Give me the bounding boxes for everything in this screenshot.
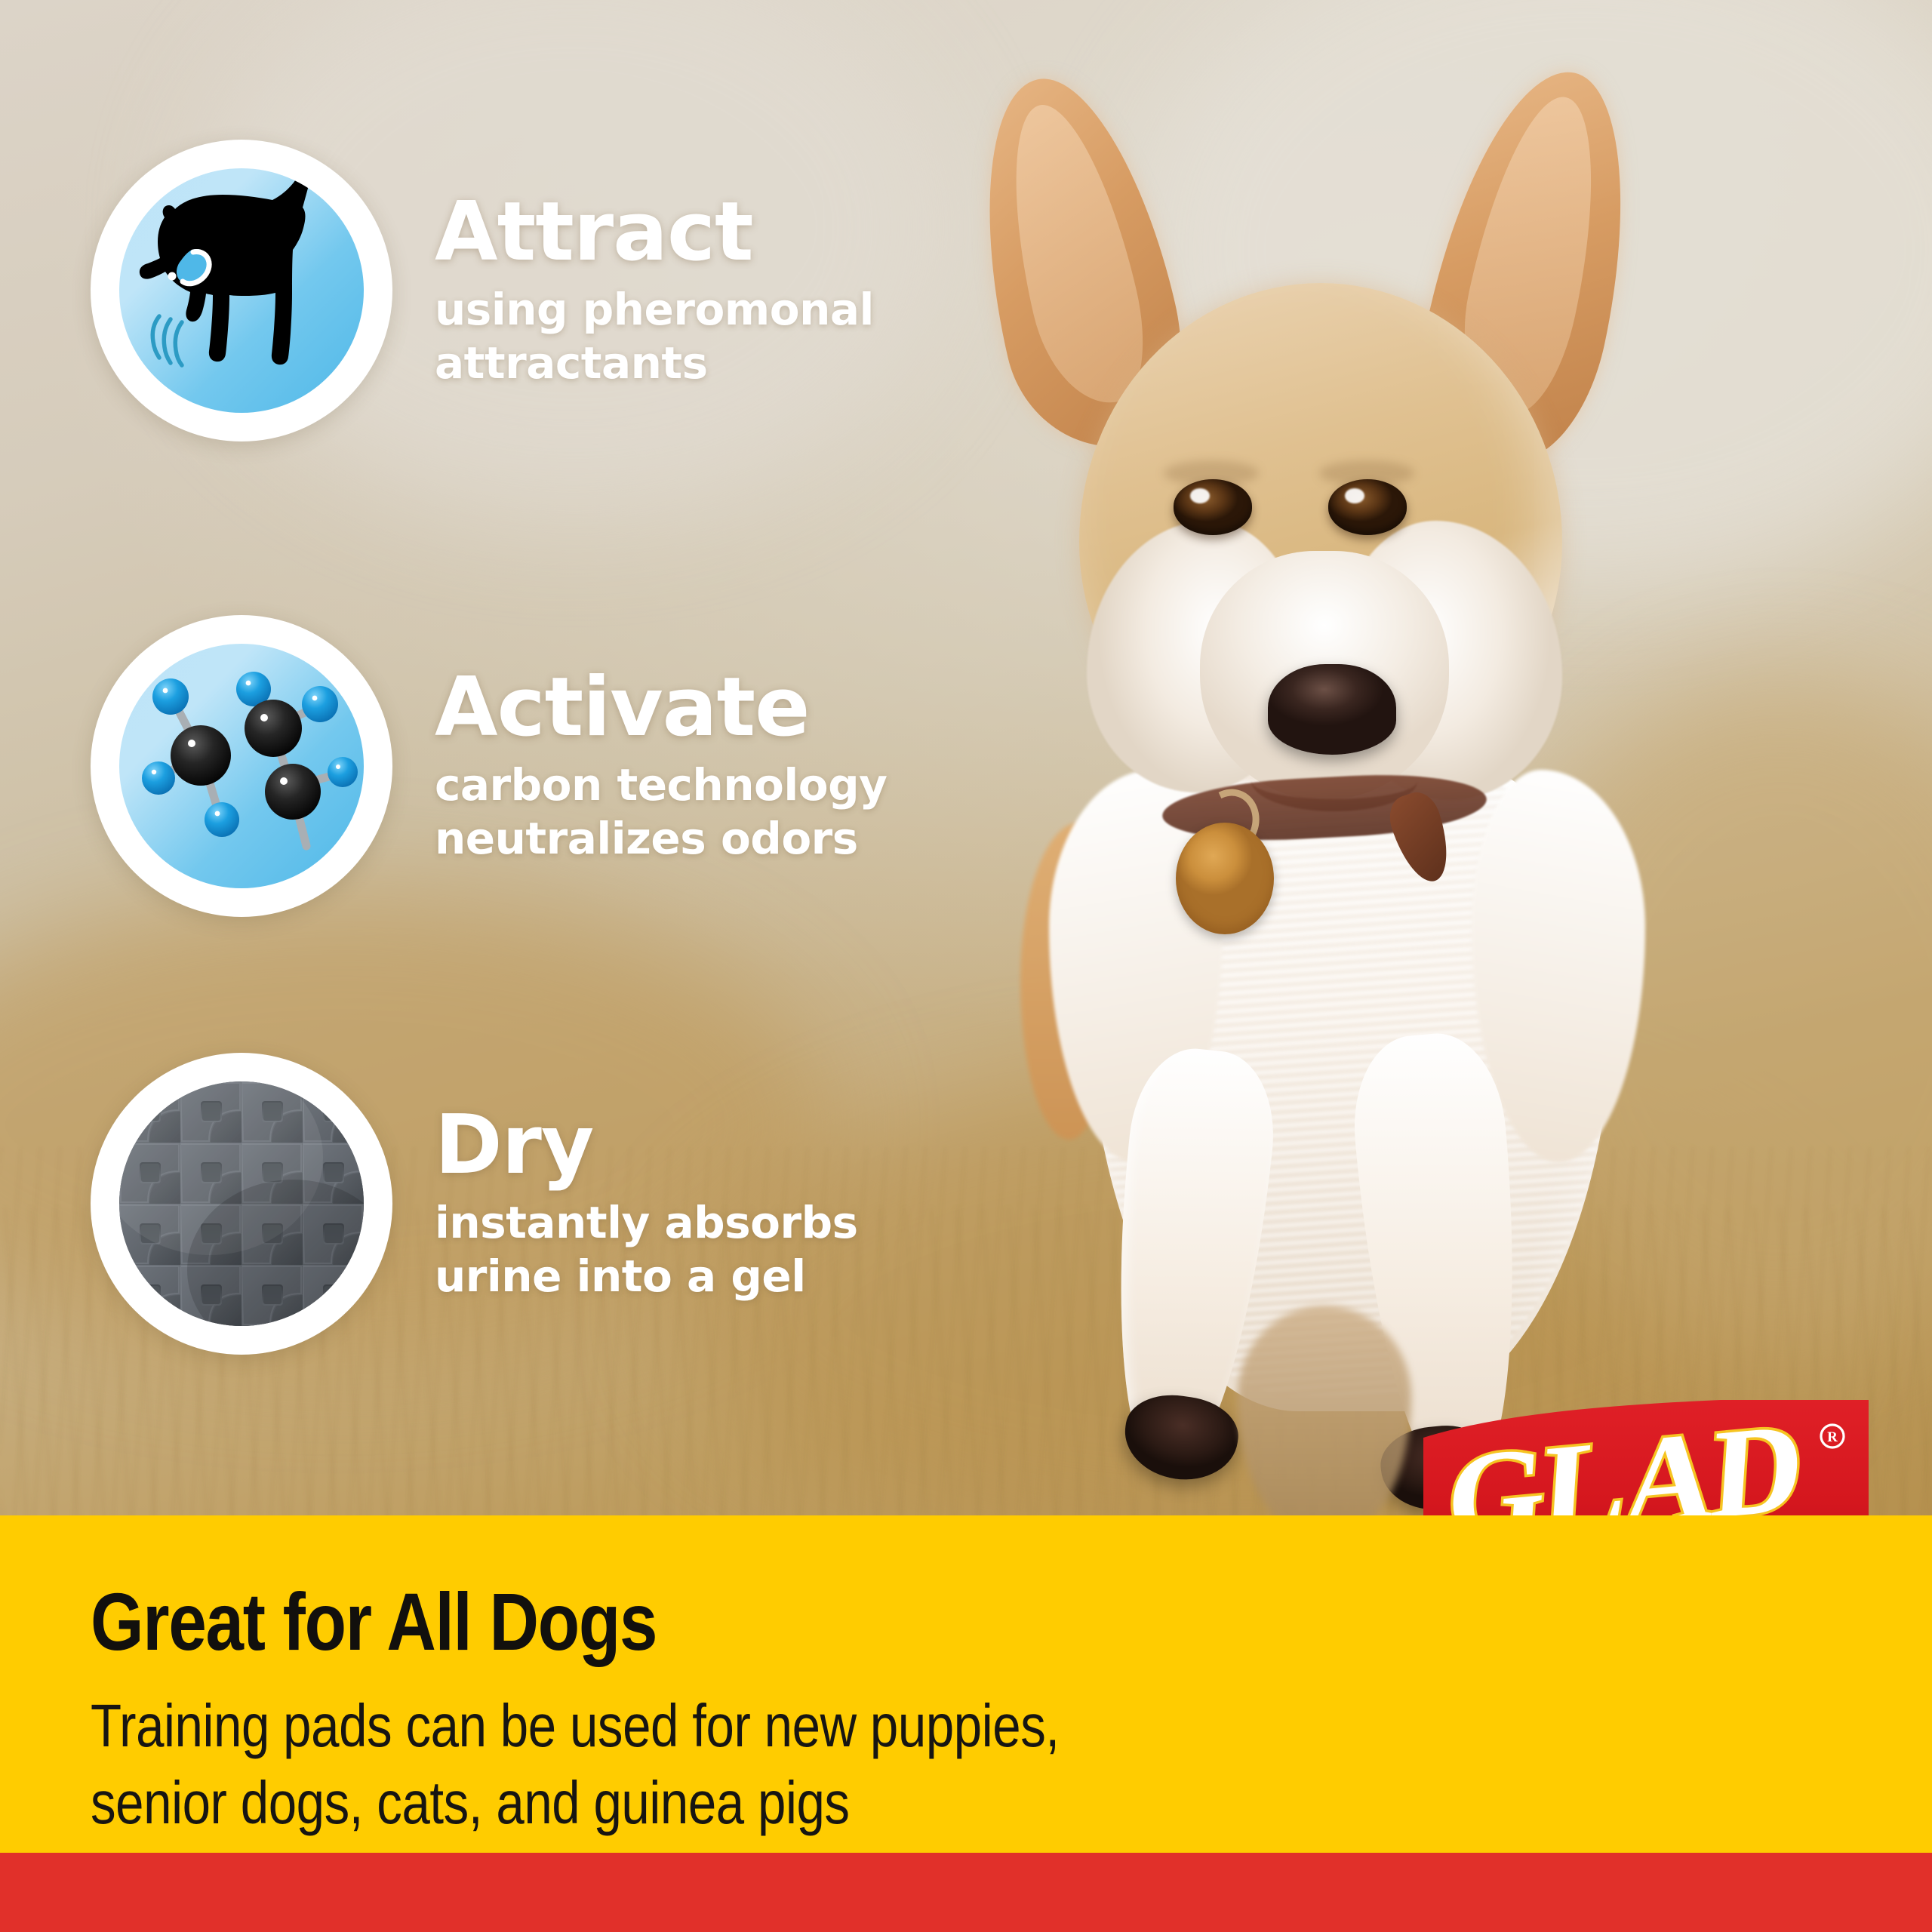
feature-heading: Dry <box>435 1104 858 1187</box>
feature-subtext-line: urine into a gel <box>435 1250 858 1303</box>
carbon-molecule-icon <box>119 644 364 888</box>
feature-subtext: carbon technology neutralizes odors <box>435 758 887 866</box>
footer-body-line: senior dogs, cats, and guinea pigs <box>91 1764 1060 1841</box>
feature-subtext-line: carbon technology <box>435 758 887 812</box>
feature-badge <box>91 140 392 441</box>
dog-id-tag <box>1176 823 1274 934</box>
dog-eye-left <box>1174 479 1252 535</box>
feature-heading: Activate <box>435 666 887 749</box>
dog-nose <box>1268 664 1396 755</box>
feature-heading: Attract <box>435 191 874 274</box>
dog-eye-right <box>1328 479 1407 535</box>
feature-subtext: using pheromonal attractants <box>435 283 874 390</box>
footer-body: Training pads can be used for new puppie… <box>91 1687 1060 1842</box>
feature-subtext: instantly absorbs urine into a gel <box>435 1196 858 1303</box>
feature-dry: Dry instantly absorbs urine into a gel <box>91 1053 858 1355</box>
feature-text: Dry instantly absorbs urine into a gel <box>435 1104 858 1303</box>
feature-text: Activate carbon technology neutralizes o… <box>435 666 887 866</box>
feature-subtext-line: using pheromonal <box>435 283 874 337</box>
footer-headline: Great for All Dogs <box>91 1574 657 1669</box>
feature-badge <box>91 1053 392 1355</box>
feature-badge <box>91 615 392 917</box>
dog-hind-body <box>1238 1306 1411 1515</box>
footer-body-line: Training pads can be used for new puppie… <box>91 1687 1060 1764</box>
dog-sniffing-icon <box>119 168 364 413</box>
feature-activate: Activate carbon technology neutralizes o… <box>91 615 887 917</box>
svg-text:R: R <box>1827 1429 1838 1445</box>
absorbent-pad-texture-icon <box>119 1081 364 1326</box>
dog-photo-subject <box>974 68 1781 1472</box>
product-feature-banner: Attract using pheromonal attractants <box>0 0 1932 1932</box>
bottom-red-bar <box>0 1853 1932 1932</box>
feature-subtext-line: attractants <box>435 337 874 390</box>
feature-attract: Attract using pheromonal attractants <box>91 140 874 441</box>
feature-subtext-line: instantly absorbs <box>435 1196 858 1250</box>
feature-subtext-line: neutralizes odors <box>435 812 887 866</box>
footer-band: Great for All Dogs Training pads can be … <box>0 1515 1932 1853</box>
feature-text: Attract using pheromonal attractants <box>435 191 874 390</box>
